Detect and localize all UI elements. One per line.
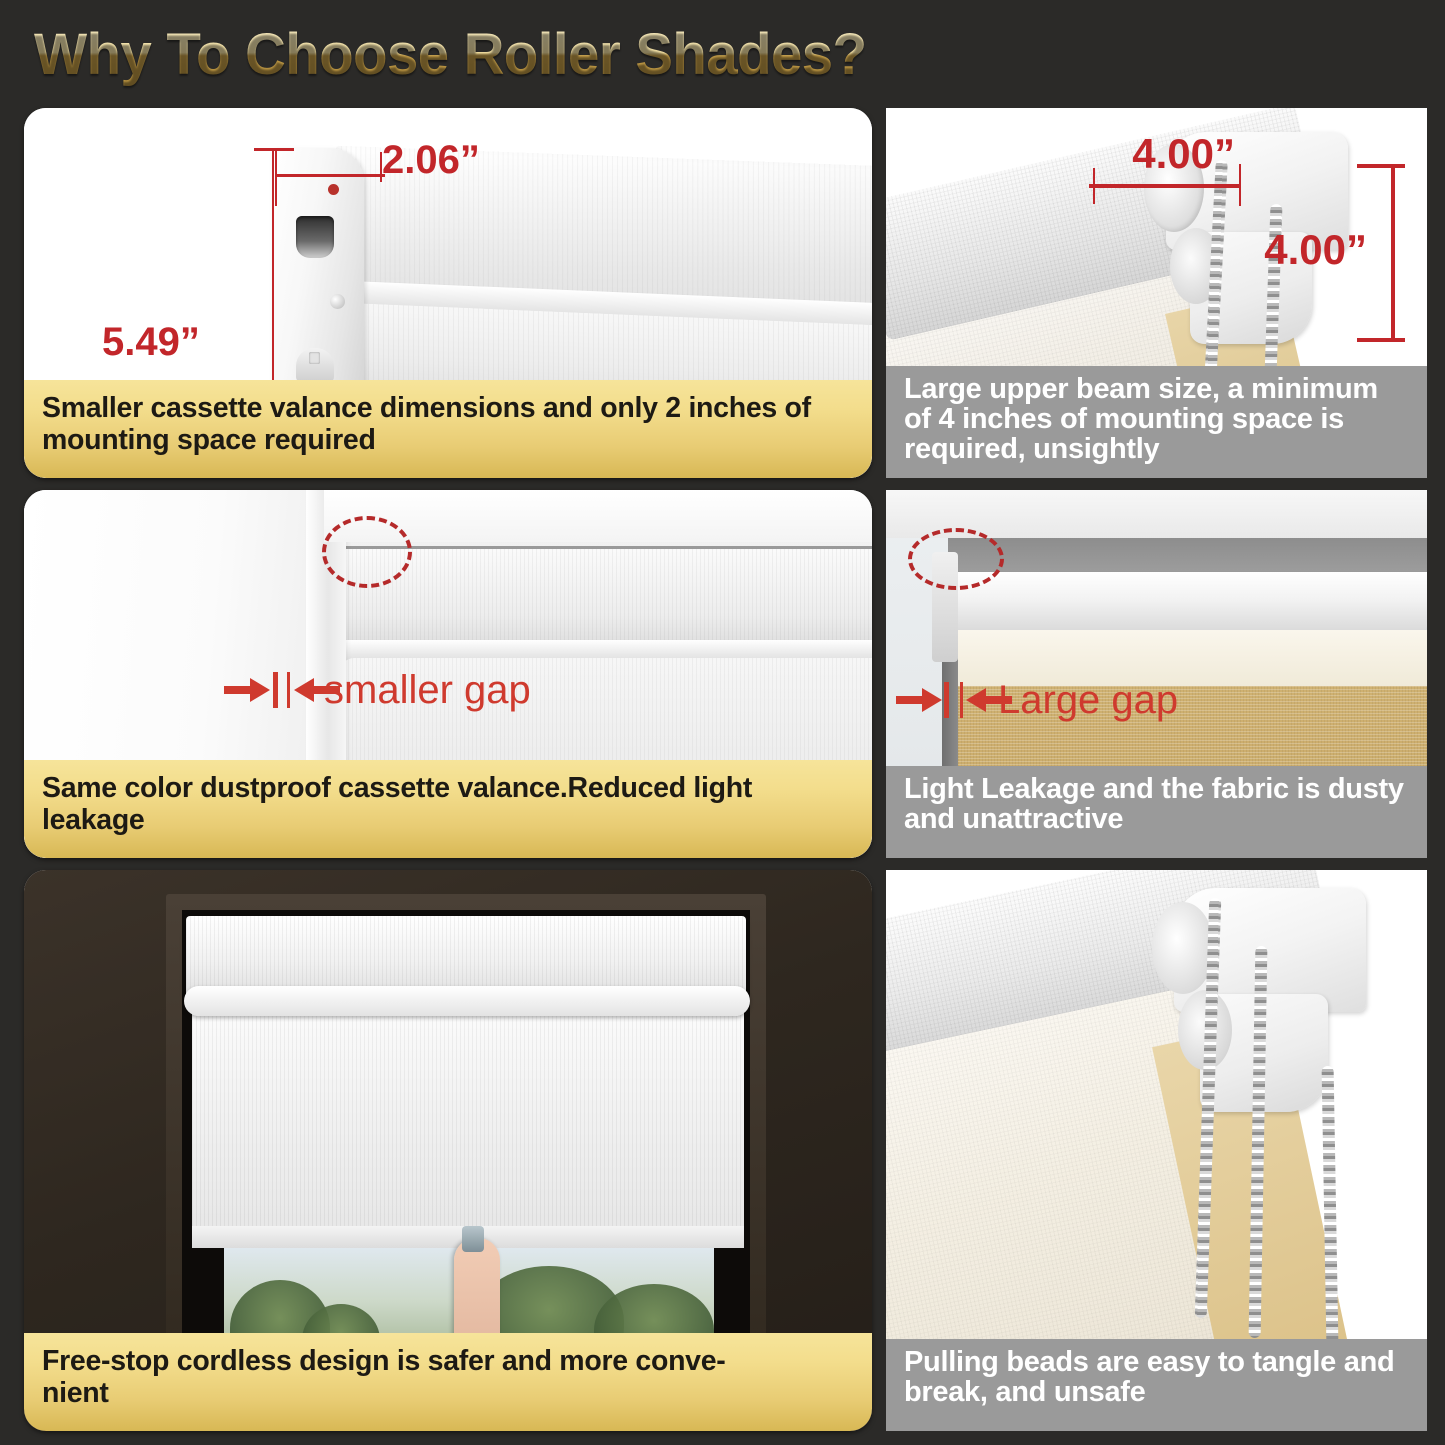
panel-bottom-right: Pulling beads are easy to tangle and bre… bbox=[886, 870, 1427, 1431]
annotation-large-gap: Large gap bbox=[998, 678, 1178, 723]
panel-mid-right: Large gap Light Leakage and the fabric i… bbox=[886, 490, 1427, 858]
caption-bottom-left: Free-stop cordless design is safer and m… bbox=[24, 1333, 872, 1431]
caption-top-left: Smaller cassette valance dimensions and … bbox=[24, 380, 872, 478]
gap-arrow-icons bbox=[896, 682, 1016, 722]
panel-mid-left: smaller gap Same color dustproof cassett… bbox=[24, 490, 872, 858]
panel-top-right: 4.00” 4.00” Large upper beam size, a min… bbox=[886, 108, 1427, 478]
valance-slot-icon bbox=[296, 216, 334, 258]
page-title: Why To Choose Roller Shades? bbox=[34, 21, 867, 88]
dimension-label-beam-width: 4.00” bbox=[1132, 130, 1235, 178]
annotation-smaller-gap: smaller gap bbox=[324, 668, 531, 713]
knob-icon bbox=[296, 348, 334, 382]
gap-arrow-icons bbox=[224, 672, 344, 712]
panel-bottom-left: Free-stop cordless design is safer and m… bbox=[24, 870, 872, 1431]
dimension-label-beam-height: 4.00” bbox=[1264, 226, 1367, 274]
dimension-label-height: 5.49” bbox=[102, 320, 200, 365]
highlight-ellipse bbox=[322, 516, 412, 588]
caption-mid-right: Light Leakage and the fabric is dusty an… bbox=[886, 766, 1427, 858]
dimension-label-width: 2.06” bbox=[382, 138, 480, 183]
caption-bottom-right: Pulling beads are easy to tangle and bre… bbox=[886, 1339, 1427, 1431]
header: Why To Choose Roller Shades? bbox=[0, 0, 1445, 108]
comparison-grid: 2.06” 5.49” Smaller cassette valance dim… bbox=[0, 108, 1445, 1445]
highlight-ellipse bbox=[908, 528, 1004, 590]
red-pin-icon bbox=[328, 184, 339, 195]
caption-mid-left: Same color dustproof cassette valance.Re… bbox=[24, 760, 872, 858]
caption-top-right: Large upper beam size, a minimum of 4 in… bbox=[886, 366, 1427, 478]
valance-illustration bbox=[272, 142, 872, 408]
screw-icon bbox=[330, 294, 345, 309]
panel-top-left: 2.06” 5.49” Smaller cassette valance dim… bbox=[24, 108, 872, 478]
pull-grip bbox=[462, 1226, 484, 1252]
